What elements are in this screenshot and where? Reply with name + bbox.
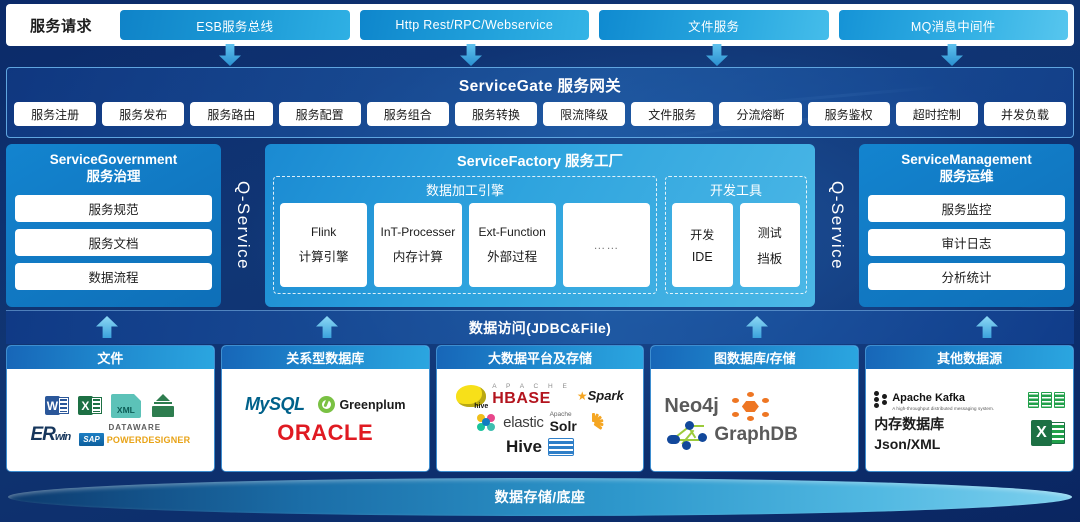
data-source-card-file: 文件 W X XML: [6, 345, 215, 472]
oracle-logo: ORACLE: [277, 420, 373, 446]
bigdata-logo-row-1: A P A C H E HBASE ★Spark: [442, 383, 639, 408]
graph-logo-row-1: Neo4j: [656, 391, 853, 421]
data-source-card-graph: 图数据库/存储 Neo4j: [650, 345, 859, 472]
service-gate-chip-list: 服务注册 服务发布 服务路由 服务配置 服务组合 服务转换 限流降级 文件服务 …: [7, 96, 1073, 126]
governance-item-service-spec[interactable]: 服务规范: [15, 195, 212, 222]
q-service-right-column: Q-Service: [815, 144, 859, 307]
dataware-logo: DATAWARE: [108, 423, 161, 432]
management-item-audit-log[interactable]: 审计日志: [868, 229, 1065, 256]
engine-cell-list: Flink 计算引擎 InT-Processer 内存计算 Ext-Functi…: [280, 203, 650, 287]
other-logo-row-1: Apache Kafka A high-throughput distribut…: [874, 388, 1065, 411]
engine-cell-more-line1: ……: [593, 238, 619, 252]
service-request-bar: 服务请求 ESB服务总线 Http Rest/RPC/Webservice 文件…: [6, 4, 1074, 46]
word-icon: W: [45, 395, 69, 417]
data-source-body-file: W X XML ERwin: [7, 369, 214, 471]
graphdb-logo: GraphDB: [714, 424, 797, 446]
devtool-cell-test-stub-line2: 挡板: [757, 248, 782, 267]
data-source-card-other: 其他数据源 Apache Kafka A high-throughput dis…: [865, 345, 1074, 472]
dev-tools-group: 开发工具 开发 IDE 测试 挡板: [665, 176, 807, 294]
dev-tools-title: 开发工具: [672, 180, 800, 199]
arrow-down-icon: [941, 44, 963, 66]
elastic-logo: [477, 414, 497, 432]
gate-chip-service-config[interactable]: 服务配置: [279, 102, 361, 126]
gate-chip-service-transform[interactable]: 服务转换: [455, 102, 537, 126]
hadoop-hive-logo: [456, 385, 486, 407]
service-governance-title: ServiceGovernment 服务治理: [15, 152, 212, 186]
service-management-title-en: ServiceManagement: [901, 152, 1032, 167]
gate-chip-timeout-control[interactable]: 超时控制: [896, 102, 978, 126]
data-storage-base: 数据存储/底座: [8, 478, 1072, 516]
gate-chip-service-publish[interactable]: 服务发布: [102, 102, 184, 126]
engine-cell-ext-function-line1: Ext-Function: [478, 225, 545, 239]
service-management-title: ServiceManagement 服务运维: [868, 152, 1065, 186]
data-storage-base-label: 数据存储/底座: [495, 487, 586, 507]
data-source-body-other: Apache Kafka A high-throughput distribut…: [866, 369, 1073, 471]
management-item-analytics[interactable]: 分析统计: [868, 263, 1065, 290]
request-button-file-service[interactable]: 文件服务: [599, 10, 829, 40]
devtool-cell-ide[interactable]: 开发 IDE: [672, 203, 733, 287]
graph-logo-row-2: GraphDB: [656, 421, 853, 449]
q-service-left-label: Q-Service: [233, 181, 253, 270]
middle-section: ServiceGovernment 服务治理 服务规范 服务文档 数据流程 Q-…: [6, 144, 1074, 307]
data-source-card-rdb: 关系型数据库 MySQL Greenplum ORACLE: [221, 345, 430, 472]
service-governance-card: ServiceGovernment 服务治理 服务规范 服务文档 数据流程: [6, 144, 221, 307]
data-source-body-bigdata: A P A C H E HBASE ★Spark elastic Apache …: [437, 369, 644, 471]
gate-chip-service-auth[interactable]: 服务鉴权: [808, 102, 890, 126]
hive-logo: Hive: [506, 437, 542, 457]
graphdb-icon: [729, 391, 771, 421]
service-gate-panel: ServiceGate 服务网关 服务注册 服务发布 服务路由 服务配置 服务组…: [6, 67, 1074, 138]
spark-logo: ★Spark: [577, 388, 624, 403]
excel-icon: X: [1031, 420, 1065, 446]
other-logo-row-2: 内存数据库 Json/XML X: [874, 414, 1065, 452]
governance-item-data-flow[interactable]: 数据流程: [15, 263, 212, 290]
rdb-logo-row-2: ORACLE: [227, 420, 424, 446]
hbase-logo: A P A C H E HBASE: [492, 383, 571, 408]
file-logo-row-1: W X XML: [12, 394, 209, 418]
data-source-title-bigdata: 大数据平台及存储: [437, 346, 644, 369]
arrow-down-icon: [219, 44, 241, 66]
dev-tools-cell-list: 开发 IDE 测试 挡板: [672, 203, 800, 287]
service-gate-title: ServiceGate 服务网关: [7, 68, 1073, 96]
data-source-row: 文件 W X XML: [6, 345, 1074, 472]
service-governance-title-en: ServiceGovernment: [50, 152, 178, 167]
arrow-down-icon: [460, 44, 482, 66]
request-button-mq[interactable]: MQ消息中间件: [839, 10, 1069, 40]
devtool-cell-ide-line2: IDE: [692, 250, 713, 264]
service-governance-item-list: 服务规范 服务文档 数据流程: [15, 195, 212, 290]
gate-chip-file-service[interactable]: 文件服务: [631, 102, 713, 126]
sap-powerdesigner-logo: DATAWARE SAP POWERDESIGNER: [79, 423, 190, 446]
devtool-cell-test-stub-line1: 测试: [758, 224, 782, 241]
request-button-esb[interactable]: ESB服务总线: [120, 10, 350, 40]
service-management-card: ServiceManagement 服务运维 服务监控 审计日志 分析统计: [859, 144, 1074, 307]
neo4j-logo: Neo4j: [664, 395, 718, 418]
service-factory-title: ServiceFactory 服务工厂: [273, 150, 807, 171]
json-xml-label: Json/XML: [874, 436, 944, 452]
data-access-label: 数据访问(JDBC&File): [469, 318, 611, 338]
gate-chip-concurrency-load[interactable]: 并发负载: [984, 102, 1066, 126]
engine-cell-flink-line2: 计算引擎: [299, 246, 349, 265]
diagram-canvas: 服务请求 ESB服务总线 Http Rest/RPC/Webservice 文件…: [0, 0, 1080, 522]
greenplum-logo: Greenplum: [318, 396, 405, 413]
management-item-service-monitor[interactable]: 服务监控: [868, 195, 1065, 222]
gate-chip-circuit-breaker[interactable]: 分流熔断: [719, 102, 801, 126]
service-management-item-list: 服务监控 审计日志 分析统计: [868, 195, 1065, 290]
service-factory-inner: 数据加工引擎 Flink 计算引擎 InT-Processer 内存计算 Ext…: [273, 176, 807, 294]
gate-chip-service-register[interactable]: 服务注册: [14, 102, 96, 126]
data-source-title-file: 文件: [7, 346, 214, 369]
gate-chip-service-compose[interactable]: 服务组合: [367, 102, 449, 126]
service-factory-card: ServiceFactory 服务工厂 数据加工引擎 Flink 计算引擎 In…: [265, 144, 815, 307]
data-source-body-rdb: MySQL Greenplum ORACLE: [222, 369, 429, 471]
data-source-card-bigdata: 大数据平台及存储 A P A C H E HBASE ★Spark elasti…: [436, 345, 645, 472]
devtool-cell-ide-line1: 开发: [690, 226, 714, 243]
service-governance-title-cn: 服务治理: [15, 169, 212, 186]
gate-chip-rate-limit[interactable]: 限流降级: [543, 102, 625, 126]
rdb-logo-row-1: MySQL Greenplum: [227, 394, 424, 415]
data-source-title-rdb: 关系型数据库: [222, 346, 429, 369]
neo4j-graph-icon: [666, 421, 708, 449]
engine-cell-flink-line1: Flink: [311, 225, 336, 239]
mysql-logo: MySQL: [245, 394, 305, 415]
request-button-http-rest[interactable]: Http Rest/RPC/Webservice: [360, 10, 590, 40]
memory-db-label: 内存数据库: [874, 414, 944, 434]
engine-cell-int-processer[interactable]: InT-Processer 内存计算: [374, 203, 461, 287]
xml-file-icon: XML: [111, 394, 141, 418]
governance-item-service-doc[interactable]: 服务文档: [15, 229, 212, 256]
apache-solr-logo: Apache Solr: [550, 411, 577, 434]
bigdata-logo-row-2: elastic Apache Solr: [442, 411, 639, 434]
excel-icon: X: [78, 395, 102, 417]
engine-cell-int-processer-line2: 内存计算: [393, 246, 443, 265]
q-service-left-column: Q-Service: [221, 144, 265, 307]
hive-file-icon: [548, 438, 574, 456]
gate-chip-service-route[interactable]: 服务路由: [190, 102, 272, 126]
bigdata-logo-row-3: Hive: [442, 437, 639, 457]
upload-icon: [150, 394, 176, 418]
data-access-band: 数据访问(JDBC&File): [6, 310, 1074, 344]
erwin-logo: ERwin: [30, 424, 70, 446]
engine-cell-more[interactable]: ……: [563, 203, 650, 287]
data-source-title-other: 其他数据源: [866, 346, 1073, 369]
data-source-body-graph: Neo4j: [651, 369, 858, 471]
elastic-label: elastic: [503, 414, 543, 431]
data-processing-engine-title: 数据加工引擎: [280, 180, 650, 199]
solr-sunburst-icon: [583, 413, 603, 433]
data-source-title-graph: 图数据库/存储: [651, 346, 858, 369]
service-management-title-cn: 服务运维: [868, 169, 1065, 186]
engine-cell-ext-function[interactable]: Ext-Function 外部过程: [469, 203, 556, 287]
apache-kafka-logo: Apache Kafka A high-throughput distribut…: [874, 388, 994, 411]
service-request-label: 服务请求: [12, 15, 110, 36]
engine-cell-int-processer-line1: InT-Processer: [381, 225, 456, 239]
green-grid-icon: [1028, 392, 1065, 408]
arrow-down-icon: [706, 44, 728, 66]
file-logo-row-2: ERwin DATAWARE SAP POWERDESIGNER: [12, 423, 209, 446]
q-service-right-label: Q-Service: [827, 181, 847, 270]
engine-cell-flink[interactable]: Flink 计算引擎: [280, 203, 367, 287]
engine-cell-ext-function-line2: 外部过程: [487, 246, 537, 265]
data-processing-engine-group: 数据加工引擎 Flink 计算引擎 InT-Processer 内存计算 Ext…: [273, 176, 657, 294]
devtool-cell-test-stub[interactable]: 测试 挡板: [740, 203, 801, 287]
